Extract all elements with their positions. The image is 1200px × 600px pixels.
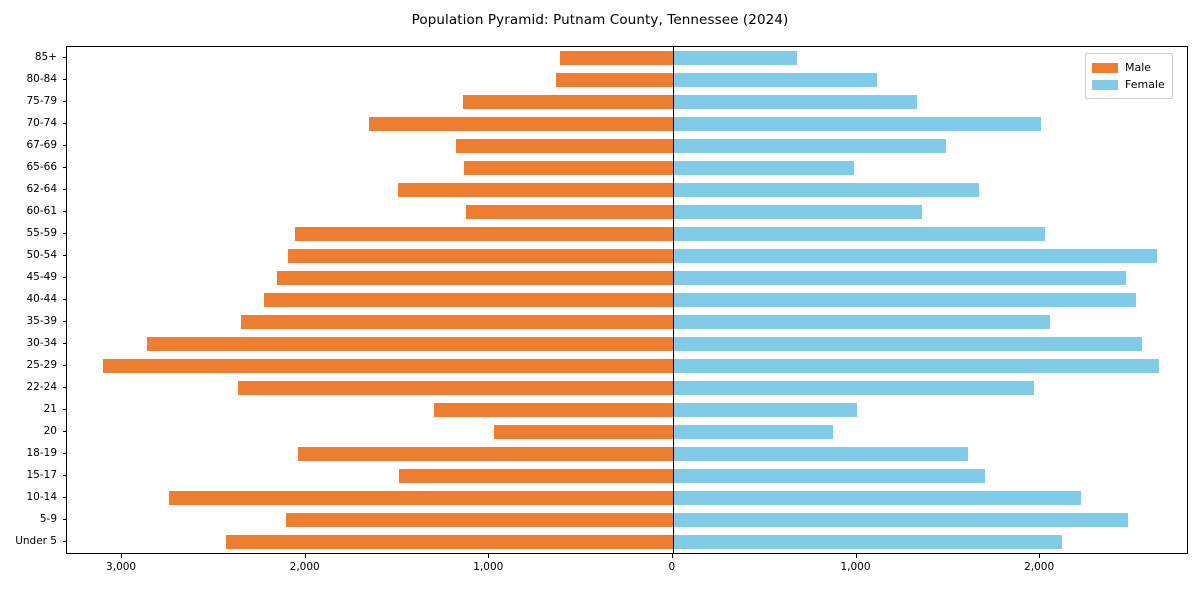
bar-female xyxy=(673,139,946,154)
bar-female xyxy=(673,403,858,418)
bar-row xyxy=(67,205,1187,220)
x-axis-tick-label: 2,000 xyxy=(290,562,320,573)
y-axis-tick-label: 30-34 xyxy=(26,338,57,349)
x-axis-tick-mark xyxy=(488,554,489,558)
y-axis-tick-label: 5-9 xyxy=(40,514,57,525)
bar-row xyxy=(67,293,1187,308)
bar-male xyxy=(103,359,673,374)
bar-male xyxy=(456,139,673,154)
bar-male xyxy=(466,205,673,220)
bar-male xyxy=(369,117,673,132)
bar-female xyxy=(673,205,922,220)
y-axis-tick-label: 60-61 xyxy=(26,206,57,217)
legend-swatch-female-icon xyxy=(1092,80,1118,90)
bar-row xyxy=(67,95,1187,110)
bar-male xyxy=(399,469,673,484)
x-axis-tick-label: 2,000 xyxy=(1024,562,1054,573)
bar-male xyxy=(463,95,672,110)
y-axis-tick-label: 80-84 xyxy=(26,74,57,85)
bar-male xyxy=(298,447,673,462)
bar-female xyxy=(673,447,968,462)
bar-row xyxy=(67,447,1187,462)
bar-row xyxy=(67,183,1187,198)
y-axis-tick-label: 67-69 xyxy=(26,140,57,151)
y-axis-tick-label: 40-44 xyxy=(26,294,57,305)
x-axis-tick-mark xyxy=(672,554,673,558)
bar-male xyxy=(226,535,673,550)
y-axis-tick-label: 25-29 xyxy=(26,360,57,371)
legend-label-female: Female xyxy=(1125,79,1165,90)
y-axis-tick-label: 10-14 xyxy=(26,492,57,503)
bar-male xyxy=(264,293,673,308)
y-axis-tick-label: 75-79 xyxy=(26,96,57,107)
bar-male xyxy=(241,315,673,330)
bar-row xyxy=(67,381,1187,396)
bar-row xyxy=(67,403,1187,418)
bar-male xyxy=(556,73,673,88)
bar-row xyxy=(67,359,1187,374)
x-axis-tick-label: 3,000 xyxy=(106,562,136,573)
bar-row xyxy=(67,117,1187,132)
bar-row xyxy=(67,425,1187,440)
y-axis-tick-label: 45-49 xyxy=(26,272,57,283)
bar-female xyxy=(673,161,854,176)
bar-row xyxy=(67,139,1187,154)
bar-female xyxy=(673,271,1126,286)
y-axis-tick-label: 50-54 xyxy=(26,250,57,261)
bar-female xyxy=(673,381,1034,396)
y-axis-tick-label: 35-39 xyxy=(26,316,57,327)
y-axis-tick-label: 21 xyxy=(44,404,57,415)
bar-row xyxy=(67,73,1187,88)
plot-area xyxy=(66,46,1188,554)
bar-male xyxy=(277,271,673,286)
bar-female xyxy=(673,117,1041,132)
bar-female xyxy=(673,95,917,110)
bar-male xyxy=(147,337,673,352)
legend-swatch-male-icon xyxy=(1092,63,1118,73)
bar-male xyxy=(286,513,673,528)
zero-axis-line xyxy=(673,47,674,553)
chart-legend: Male Female xyxy=(1085,53,1173,99)
bar-male xyxy=(464,161,673,176)
y-axis-tick-label: 70-74 xyxy=(26,118,57,129)
y-axis-tick-label: 65-66 xyxy=(26,162,57,173)
bar-female xyxy=(673,315,1050,330)
x-axis-tick-label: 0 xyxy=(669,562,676,573)
bar-row xyxy=(67,249,1187,264)
bar-male xyxy=(434,403,673,418)
legend-item-female: Female xyxy=(1092,76,1165,93)
bar-row xyxy=(67,469,1187,484)
bar-female xyxy=(673,337,1142,352)
x-axis-tick-mark xyxy=(1039,554,1040,558)
bar-female xyxy=(673,293,1136,308)
y-axis-tick-label: 20 xyxy=(44,426,57,437)
bar-female xyxy=(673,227,1045,242)
chart-title: Population Pyramid: Putnam County, Tenne… xyxy=(0,12,1200,28)
bar-female xyxy=(673,535,1062,550)
bar-row xyxy=(67,51,1187,66)
bar-male xyxy=(238,381,673,396)
bar-row xyxy=(67,227,1187,242)
legend-item-male: Male xyxy=(1092,59,1165,76)
x-axis-tick-mark xyxy=(856,554,857,558)
bar-male xyxy=(560,51,673,66)
bar-row xyxy=(67,161,1187,176)
bar-female xyxy=(673,249,1157,264)
y-axis-tick-label: 85+ xyxy=(35,52,57,63)
x-axis-tick-mark xyxy=(305,554,306,558)
population-pyramid-figure: Population Pyramid: Putnam County, Tenne… xyxy=(0,0,1200,600)
bars-layer xyxy=(67,47,1187,553)
bar-male xyxy=(398,183,673,198)
bar-row xyxy=(67,315,1187,330)
y-axis-tick-label: 15-17 xyxy=(26,470,57,481)
bar-female xyxy=(673,359,1160,374)
bar-male xyxy=(288,249,673,264)
bar-row xyxy=(67,535,1187,550)
bar-male xyxy=(295,227,672,242)
y-axis-tick-label: 55-59 xyxy=(26,228,57,239)
bar-male xyxy=(169,491,673,506)
x-axis-tick-label: 1,000 xyxy=(473,562,503,573)
y-axis-tick-label: Under 5 xyxy=(15,536,57,547)
y-axis: 85+80-8475-7970-7467-6965-6662-6460-6155… xyxy=(0,46,66,554)
y-axis-tick-label: 22-24 xyxy=(26,382,57,393)
bar-female xyxy=(673,183,979,198)
bar-male xyxy=(494,425,672,440)
x-axis: 3,0002,0001,00001,0002,000 xyxy=(66,554,1188,594)
bar-row xyxy=(67,491,1187,506)
bar-female xyxy=(673,51,797,66)
bar-row xyxy=(67,337,1187,352)
bar-female xyxy=(673,491,1082,506)
bar-female xyxy=(673,513,1128,528)
y-axis-tick-label: 18-19 xyxy=(26,448,57,459)
bar-female xyxy=(673,425,833,440)
y-axis-tick-label: 62-64 xyxy=(26,184,57,195)
bar-row xyxy=(67,271,1187,286)
x-axis-tick-label: 1,000 xyxy=(840,562,870,573)
legend-label-male: Male xyxy=(1125,62,1151,73)
x-axis-tick-mark xyxy=(121,554,122,558)
bar-female xyxy=(673,469,985,484)
bar-row xyxy=(67,513,1187,528)
bar-female xyxy=(673,73,877,88)
